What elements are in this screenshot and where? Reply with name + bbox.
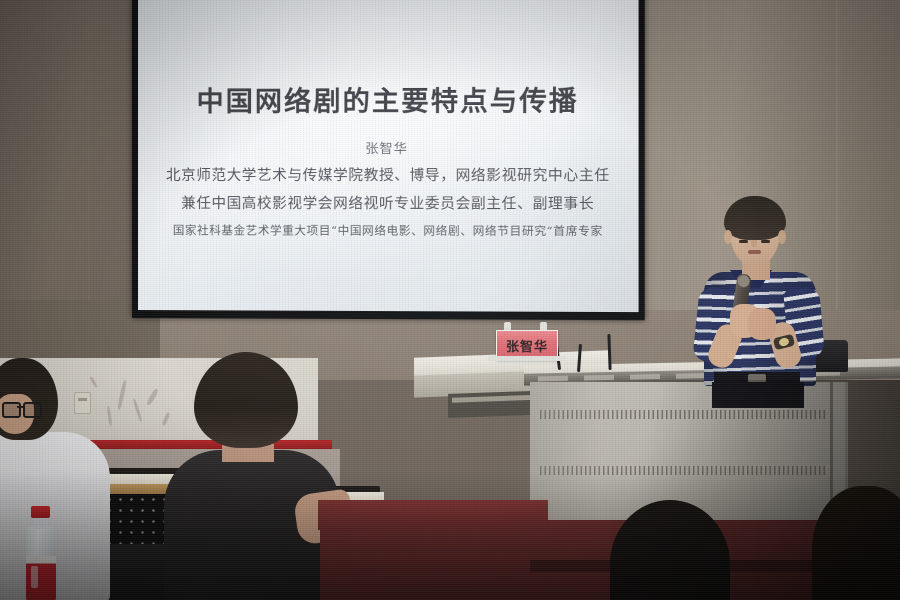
slide-affiliation-3: 国家社科基金艺术学重大项目“中国网络电影、网络剧、网络节目研究”首席专家 [138, 222, 639, 239]
speaker-mouth [748, 250, 761, 254]
audience-member-far-right [812, 486, 900, 600]
speaker-figure [686, 196, 836, 386]
bottle-cap-icon [31, 506, 50, 518]
speaker-hand-right [748, 308, 776, 340]
floor-front [318, 500, 548, 530]
slide-title: 中国网络剧的主要特点与传播 [138, 85, 639, 120]
speaker-ear [724, 230, 732, 244]
nameplate-text: 张智华 [506, 336, 548, 355]
nameplate-base [488, 356, 566, 361]
cabinet-vent [540, 466, 826, 475]
speaker-trousers [712, 382, 804, 408]
lecture-hall-photograph: 中国网络剧的主要特点与传播 张智华 北京师范大学艺术与传媒学院教授、博导，网络影… [0, 0, 900, 600]
speaker-ear [778, 230, 786, 244]
projection-screen-surface: 中国网络剧的主要特点与传播 张智华 北京师范大学艺术与传媒学院教授、博导，网络影… [138, 0, 639, 312]
speaker-hair [724, 196, 786, 240]
audience-member-center [150, 352, 340, 600]
water-bottle [24, 506, 58, 600]
nameplate-leg [540, 322, 547, 330]
audience-member-bottom-right [588, 500, 828, 600]
slide-author: 张智华 [138, 137, 639, 156]
cabinet-vent [540, 410, 826, 419]
projection-screen-frame: 中国网络剧的主要特点与传播 张智华 北京师范大学艺术与传媒学院教授、博导，网络影… [132, 0, 645, 320]
slide-affiliation-1: 北京师范大学艺术与传媒学院教授、博导，网络影视研究中心主任 [138, 164, 639, 185]
nameplate-leg [504, 322, 511, 330]
slide-content: 中国网络剧的主要特点与传播 张智华 北京师范大学艺术与传媒学院教授、博导，网络影… [138, 85, 639, 239]
glasses-icon [2, 402, 38, 414]
slide-affiliation-2: 兼任中国高校影视学会网络视听专业委员会副主任、副理事长 [138, 192, 639, 214]
